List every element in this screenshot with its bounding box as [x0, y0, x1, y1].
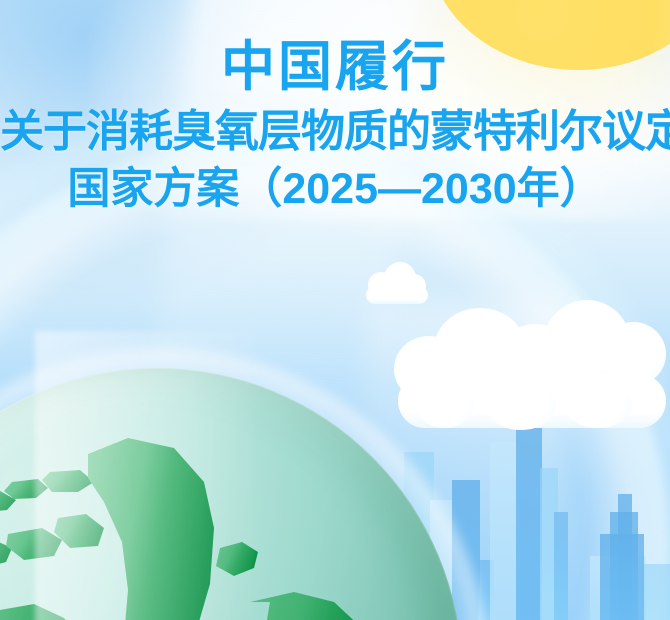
building — [516, 424, 542, 620]
cloud-small — [366, 262, 428, 304]
title-line-3: 国家方案（2025—2030年） — [0, 166, 670, 212]
poster-canvas: 中国履行 关于消耗臭氧层物质的蒙特利尔议定书 国家方案（2025—2030年） — [0, 0, 670, 620]
building — [554, 512, 568, 620]
globe-sphere — [0, 368, 462, 620]
title-line-2: 关于消耗臭氧层物质的蒙特利尔议定书 — [0, 108, 670, 156]
building — [644, 564, 670, 620]
earth-globe — [0, 368, 462, 620]
poster-title: 中国履行 关于消耗臭氧层物质的蒙特利尔议定书 国家方案（2025—2030年） — [0, 0, 670, 212]
title-line-1: 中国履行 — [0, 38, 670, 96]
cloud-large — [394, 300, 670, 430]
globe-continents — [0, 368, 462, 620]
building — [618, 494, 632, 620]
